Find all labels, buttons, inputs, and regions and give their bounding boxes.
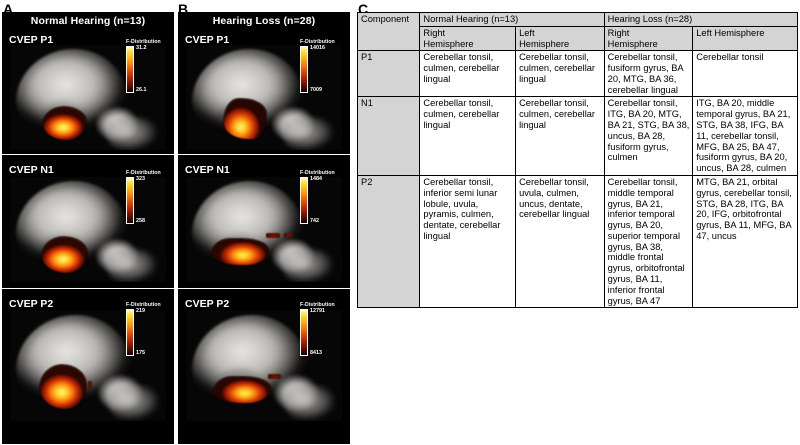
- table-header-row-hemispheres: Right Hemisphere Left Hemisphere Right H…: [358, 26, 798, 51]
- colorbar-max-hl-p1: 14016: [310, 46, 325, 51]
- component-label-nh-n1: CVEP N1: [9, 164, 54, 176]
- cell-n1-nh-right: Cerebellar tonsil, culmen, cerebellar li…: [420, 97, 516, 175]
- cell-n1-hl-left: ITG, BA 20, middle temporal gyrus, BA 21…: [693, 97, 798, 175]
- figure-root: A B C Normal Hearing (n=13) CVEP P1 F-Di…: [0, 0, 800, 445]
- header-nh-left-line2: Hemisphere: [519, 39, 569, 49]
- brain-panel-hl-n1: CVEP N1 F-Distribution 1484 742: [178, 155, 350, 288]
- colorbar-gradient-nh-p2: [126, 309, 134, 356]
- colorbar-hl-p1: F-Distribution 14016 7009: [300, 39, 335, 93]
- header-hl-right-line2: Hemisphere: [608, 39, 658, 49]
- colorbar-gradient-hl-p2: [300, 309, 308, 356]
- header-hl-left-hemisphere: Left Hemisphere: [693, 26, 798, 51]
- brain-panel-nh-p1: Normal Hearing (n=13) CVEP P1 F-Distribu…: [2, 12, 174, 154]
- brain-panel-hl-p1: Hearing Loss (n=28) CVEP P1 F-Distributi…: [178, 12, 350, 154]
- brain-panel-nh-n1: CVEP N1 F-Distribution 323 258: [2, 155, 174, 288]
- colorbar-max-nh-p2: 219: [136, 309, 145, 314]
- header-nh-left-line1: Left: [519, 28, 535, 38]
- activation-blob-nh-n1: [42, 237, 87, 273]
- row-component-p1: P1: [358, 51, 420, 97]
- cell-p1-hl-right: Cerebellar tonsil, fusiform gyrus, BA 20…: [604, 51, 693, 97]
- cell-n1-hl-right: Cerebellar tonsil, ITG, BA 20, MTG, BA 2…: [604, 97, 693, 175]
- colorbar-gradient-nh-p1: [126, 46, 134, 93]
- header-nh-right-line1: Right: [423, 28, 445, 38]
- activation-blob-hl-p2: [214, 377, 270, 403]
- colorbar-min-hl-p2: 8413: [310, 351, 325, 356]
- activation-blob-hl-p1: [224, 99, 266, 139]
- header-group-hearing-loss: Hearing Loss (n=28): [604, 13, 797, 27]
- activation-blob-nh-p1: [43, 107, 86, 140]
- table-row: P2 Cerebellar tonsil, inferior semi luna…: [358, 175, 798, 307]
- table-row: P1 Cerebellar tonsil, culmen, cerebellar…: [358, 51, 798, 97]
- header-nh-right-line2: Hemisphere: [423, 39, 473, 49]
- header-hl-right-line1: Right: [608, 28, 630, 38]
- row-component-n1: N1: [358, 97, 420, 175]
- component-label-nh-p1: CVEP P1: [9, 34, 53, 46]
- component-label-hl-p2: CVEP P2: [185, 298, 229, 310]
- activation-blob-hl-n1: [212, 239, 268, 265]
- component-label-nh-p2: CVEP P2: [9, 298, 53, 310]
- colorbar-gradient-hl-p1: [300, 46, 308, 93]
- colorbar-max-hl-n1: 1484: [310, 177, 322, 182]
- colorbar-min-nh-p1: 26.1: [136, 88, 147, 93]
- colorbar-min-hl-p1: 7009: [310, 88, 325, 93]
- colorbar-hl-p2: F-Distribution 12791 8413: [300, 302, 335, 356]
- colorbar-max-nh-p1: 31.2: [136, 46, 147, 51]
- colorbar-min-nh-n1: 258: [136, 219, 145, 224]
- cell-n1-nh-left: Cerebellar tonsil, culmen, cerebellar li…: [516, 97, 605, 175]
- localization-table-panel: Component Normal Hearing (n=13) Hearing …: [357, 12, 798, 443]
- cell-p2-hl-right: Cerebellar tonsil, middle temporal gyrus…: [604, 175, 693, 307]
- colorbar-max-nh-n1: 323: [136, 177, 145, 182]
- colorbar-gradient-nh-n1: [126, 177, 134, 224]
- header-component: Component: [358, 13, 420, 51]
- cell-p1-hl-left: Cerebellar tonsil: [693, 51, 798, 97]
- header-nh-right-hemisphere: Right Hemisphere: [420, 26, 516, 51]
- table-row: N1 Cerebellar tonsil, culmen, cerebellar…: [358, 97, 798, 175]
- component-label-hl-p1: CVEP P1: [185, 34, 229, 46]
- colorbar-min-hl-n1: 742: [310, 219, 322, 224]
- header-nh-left-hemisphere: Left Hemisphere: [516, 26, 605, 51]
- colorbar-nh-p1: F-Distribution 31.2 26.1: [126, 39, 161, 93]
- group-title-hearing-loss: Hearing Loss (n=28): [178, 15, 350, 27]
- brain-panel-hl-p2: CVEP P2 F-Distribution 12791 8413: [178, 289, 350, 444]
- cell-p2-nh-left: Cerebellar tonsil, uvula, culmen, uncus,…: [516, 175, 605, 307]
- colorbar-min-nh-p2: 175: [136, 351, 145, 356]
- localization-table: Component Normal Hearing (n=13) Hearing …: [357, 12, 798, 308]
- table-header-row-groups: Component Normal Hearing (n=13) Hearing …: [358, 13, 798, 27]
- colorbar-nh-n1: F-Distribution 323 258: [126, 170, 161, 224]
- activation-blob-nh-p2: [40, 365, 86, 409]
- header-hl-left-line1: Left Hemisphere: [696, 28, 764, 38]
- cell-p2-hl-left: MTG, BA 21, orbital gyrus, cerebellar to…: [693, 175, 798, 307]
- imaging-column-hearing-loss: Hearing Loss (n=28) CVEP P1 F-Distributi…: [178, 12, 350, 444]
- colorbar-gradient-hl-n1: [300, 177, 308, 224]
- group-title-normal-hearing: Normal Hearing (n=13): [2, 15, 174, 27]
- colorbar-nh-p2: F-Distribution 219 175: [126, 302, 161, 356]
- cell-p1-nh-left: Cerebellar tonsil, culmen, cerebellar li…: [516, 51, 605, 97]
- component-label-hl-n1: CVEP N1: [185, 164, 230, 176]
- colorbar-max-hl-p2: 12791: [310, 309, 325, 314]
- colorbar-hl-n1: F-Distribution 1484 742: [300, 170, 335, 224]
- header-hl-right-hemisphere: Right Hemisphere: [604, 26, 693, 51]
- brain-panel-nh-p2: CVEP P2 F-Distribution 219 175: [2, 289, 174, 444]
- cell-p1-nh-right: Cerebellar tonsil, culmen, cerebellar li…: [420, 51, 516, 97]
- header-group-normal-hearing: Normal Hearing (n=13): [420, 13, 604, 27]
- row-component-p2: P2: [358, 175, 420, 307]
- cell-p2-nh-right: Cerebellar tonsil, inferior semi lunar l…: [420, 175, 516, 307]
- imaging-column-normal-hearing: Normal Hearing (n=13) CVEP P1 F-Distribu…: [2, 12, 174, 444]
